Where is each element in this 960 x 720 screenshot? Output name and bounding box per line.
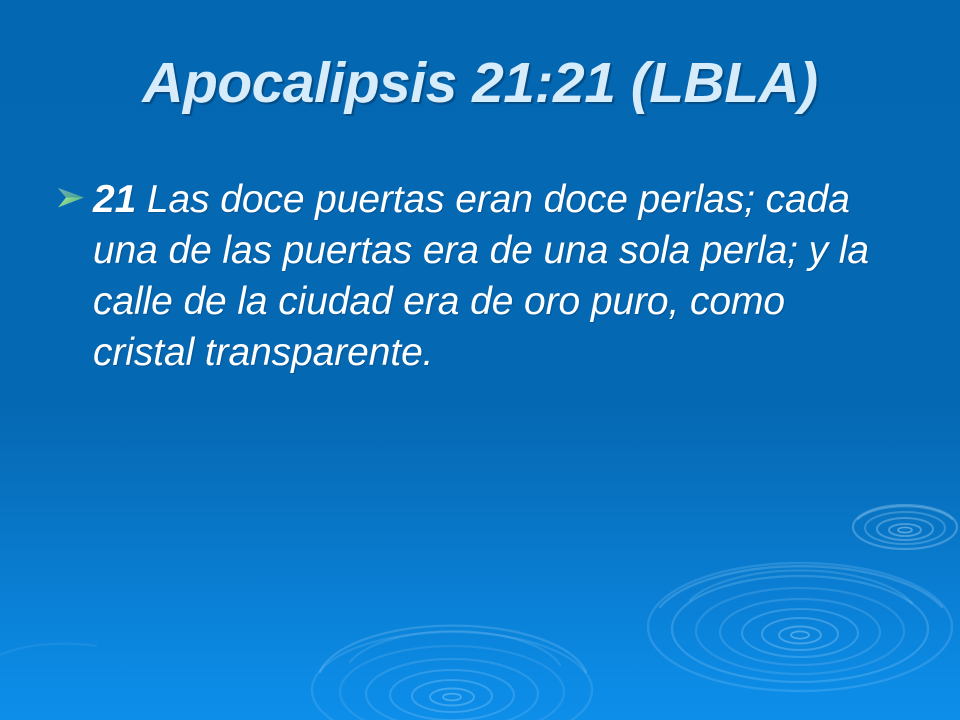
ripple-large-bottom-right (648, 563, 952, 691)
list-item: 21 Las doce puertas eran doce perlas; ca… (57, 174, 887, 378)
body-placeholder: 21 Las doce puertas eran doce perlas; ca… (57, 174, 887, 378)
title-placeholder: Apocalipsis 21:21 (LBLA) (0, 50, 960, 116)
verse-number: 21 (93, 178, 136, 221)
arrow-bullet-icon (57, 186, 87, 210)
verse-text: 21 Las doce puertas eran doce perlas; ca… (93, 174, 887, 378)
ripple-left-edge (0, 644, 96, 660)
verse-body: Las doce puertas eran doce perlas; cada … (93, 178, 869, 374)
presentation-slide: Apocalipsis 21:21 (LBLA) 21 La (0, 0, 960, 720)
ripple-small-top-right (853, 505, 957, 549)
page-title: Apocalipsis 21:21 (LBLA) (142, 50, 817, 116)
ripple-bottom-center (312, 626, 592, 720)
